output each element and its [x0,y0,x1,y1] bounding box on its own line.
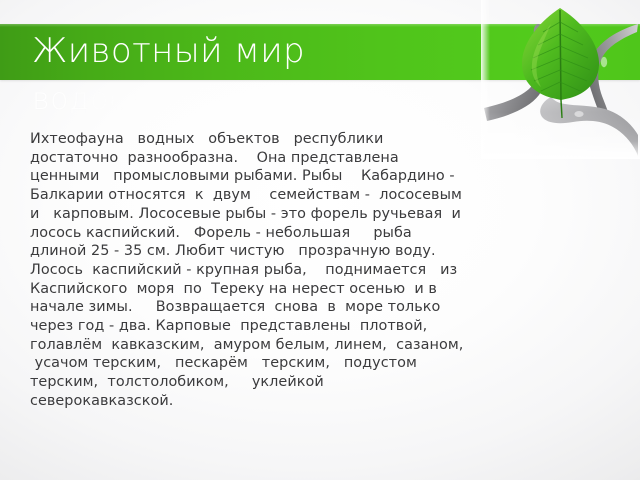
body-line: ценными промысловыми рыбами. Рыбы Кабард… [30,167,528,186]
body-paragraph: Ихтеофауна водных объектов республики до… [30,130,528,411]
body-line: через год - два. Карповые представлены п… [30,317,528,336]
body-line: терским, толстолобиком, уклейкой [30,373,528,392]
body-line: лосось каспийский. Форель - небольшая ры… [30,224,528,243]
body-line: Лосось каспийский - крупная рыба, подним… [30,261,528,280]
hands-holding-leaf-image [481,0,640,159]
slide-title-line-1: Животный мир [32,28,305,74]
presentation-slide: Животный мир водоемов [0,0,640,480]
body-line: голавлём кавказским, амуром белым, линем… [30,336,528,355]
body-line: достаточно разнообразна. Она представлен… [30,149,528,168]
body-line: северокавказской. [30,392,528,411]
body-line: и карповым. Лососевые рыбы - это форель … [30,205,528,224]
body-line: усачом терским, пескарём терским, подуст… [30,354,528,373]
slide-title-line-2: водоемов [32,82,188,118]
body-line: начале зимы. Возвращается снова в море т… [30,298,528,317]
body-line: Каспийского моря по Тереку на нерест осе… [30,280,528,299]
body-line: длиной 25 - 35 см. Любит чистую прозрачн… [30,242,528,261]
body-line: Ихтеофауна водных объектов республики [30,130,528,149]
body-line: Балкарии относятся к двум семействам - л… [30,186,528,205]
